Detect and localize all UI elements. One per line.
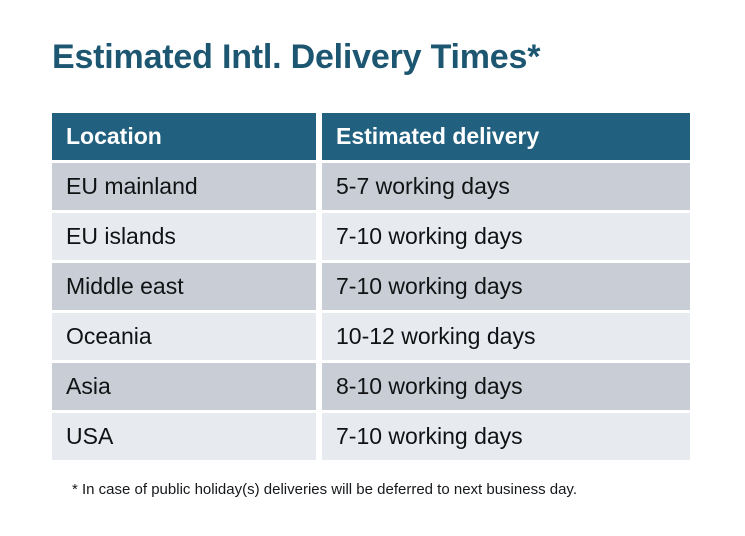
cell-estimated-delivery: 8-10 working days [322, 363, 690, 410]
cell-estimated-delivery: 7-10 working days [322, 413, 690, 460]
cell-estimated-delivery: 7-10 working days [322, 213, 690, 260]
table-row: Middle east 7-10 working days [52, 263, 690, 310]
cell-location: EU mainland [52, 163, 316, 210]
page-title: Estimated Intl. Delivery Times* [52, 36, 540, 78]
delivery-times-document: Estimated Intl. Delivery Times* Location… [0, 0, 745, 536]
table-row: USA 7-10 working days [52, 413, 690, 460]
cell-location: Asia [52, 363, 316, 410]
cell-location: Oceania [52, 313, 316, 360]
cell-location: Middle east [52, 263, 316, 310]
cell-estimated-delivery: 7-10 working days [322, 263, 690, 310]
table-row: Asia 8-10 working days [52, 363, 690, 410]
column-header-estimated-delivery: Estimated delivery [322, 113, 690, 160]
table-row: EU mainland 5-7 working days [52, 163, 690, 210]
cell-estimated-delivery: 10-12 working days [322, 313, 690, 360]
column-header-location: Location [52, 113, 316, 160]
cell-estimated-delivery: 5-7 working days [322, 163, 690, 210]
table-row: Oceania 10-12 working days [52, 313, 690, 360]
cell-location: EU islands [52, 213, 316, 260]
table-header-row: Location Estimated delivery [52, 113, 690, 160]
delivery-times-table: Location Estimated delivery EU mainland … [52, 113, 690, 460]
footnote: * In case of public holiday(s) deliverie… [72, 479, 577, 501]
cell-location: USA [52, 413, 316, 460]
table-row: EU islands 7-10 working days [52, 213, 690, 260]
